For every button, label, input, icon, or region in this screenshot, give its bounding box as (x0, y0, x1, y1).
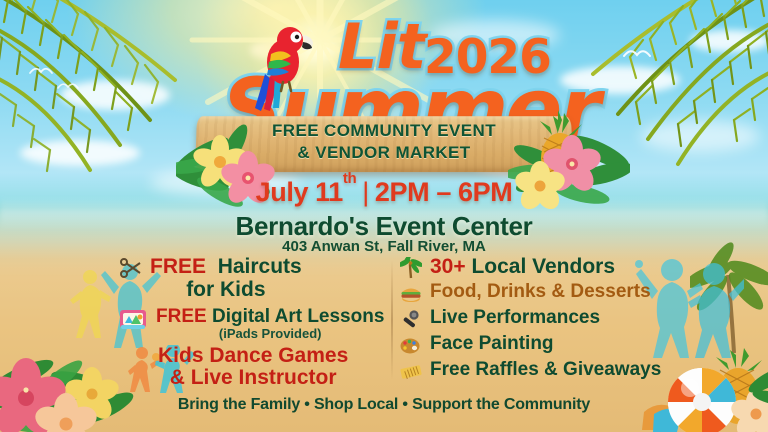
dancers-icon (118, 345, 152, 369)
event-datetime: July 11th|2PM – 6PM (0, 177, 768, 208)
feature-text: Kids Dance Games & Live Instructor (158, 345, 348, 389)
feature-label: Haircuts (212, 255, 302, 278)
palette-icon (398, 334, 424, 358)
banner-line-2: & VENDOR MARKET (196, 142, 572, 164)
microphone-icon (398, 308, 424, 332)
feature-line-1: Kids Dance Games (158, 345, 348, 367)
features-right-column: 30+ Local Vendors Food, Drinks & Dessert… (398, 256, 688, 386)
feature-label: Food, Drinks & Desserts (430, 282, 651, 302)
feature-item: FREE Haircuts for Kids (118, 256, 390, 301)
palm-frond-top-left (0, 0, 220, 190)
column-divider (391, 260, 393, 380)
feature-item: Face Painting (398, 334, 688, 358)
feature-accent: FREE (156, 306, 207, 327)
seagull-icon (56, 78, 86, 92)
banner-text: FREE COMMUNITY EVENT & VENDOR MARKET (196, 120, 572, 164)
feature-label: Digital Art Lessons (207, 306, 385, 327)
feature-label: Free Raffles & Giveaways (430, 360, 661, 380)
scissors-icon (118, 256, 144, 280)
feature-label: Face Painting (430, 334, 554, 354)
banner-line-1: FREE COMMUNITY EVENT (196, 120, 572, 142)
parrot-macaw-icon (243, 18, 319, 118)
feature-item: FREE Digital Art Lessons (iPads Provided… (118, 307, 390, 341)
headline-lit: Lit (338, 10, 425, 83)
event-time: 2PM – 6PM (375, 177, 512, 207)
palm-tree-icon (398, 256, 424, 280)
event-date: July 11 (256, 177, 343, 207)
feature-item: Live Performances (398, 308, 688, 332)
event-date-suffix: th (343, 170, 356, 187)
seagull-icon (28, 62, 62, 78)
seagull-icon (622, 44, 662, 62)
feature-item: Food, Drinks & Desserts (398, 282, 688, 306)
feature-item: Free Raffles & Giveaways (398, 360, 688, 384)
tablet-art-icon (118, 307, 150, 331)
features-section: FREE Haircuts for Kids (0, 256, 768, 386)
feature-subline: for Kids (150, 279, 302, 301)
features-left-column: FREE Haircuts for Kids (118, 256, 390, 391)
feature-text: 30+ Local Vendors (430, 256, 615, 278)
feature-line-2: & Live Instructor (158, 367, 348, 389)
feature-accent: FREE (150, 255, 206, 278)
feature-text: FREE Digital Art Lessons (iPads Provided… (156, 307, 384, 341)
event-address: 403 Anwan St, Fall River, MA (0, 238, 768, 255)
datetime-separator: | (362, 177, 369, 207)
ticket-icon (398, 360, 424, 384)
tagline: Bring the Family • Shop Local • Support … (0, 396, 768, 414)
feature-item: 30+ Local Vendors (398, 256, 688, 280)
feature-label: Local Vendors (471, 255, 615, 278)
feature-text: FREE Haircuts for Kids (150, 256, 302, 301)
palm-frond-top-right (548, 0, 768, 184)
hamburger-icon (398, 282, 424, 306)
feature-subtext: (iPads Provided) (156, 327, 384, 341)
feature-label: Live Performances (430, 308, 600, 328)
feature-accent: 30+ (430, 255, 466, 278)
feature-item: Kids Dance Games & Live Instructor (118, 345, 390, 389)
summer-event-flyer: Lit 2026 Summer FREE COMMUNITY EVENT & V… (0, 0, 768, 432)
headline-year: 2026 (424, 30, 551, 85)
